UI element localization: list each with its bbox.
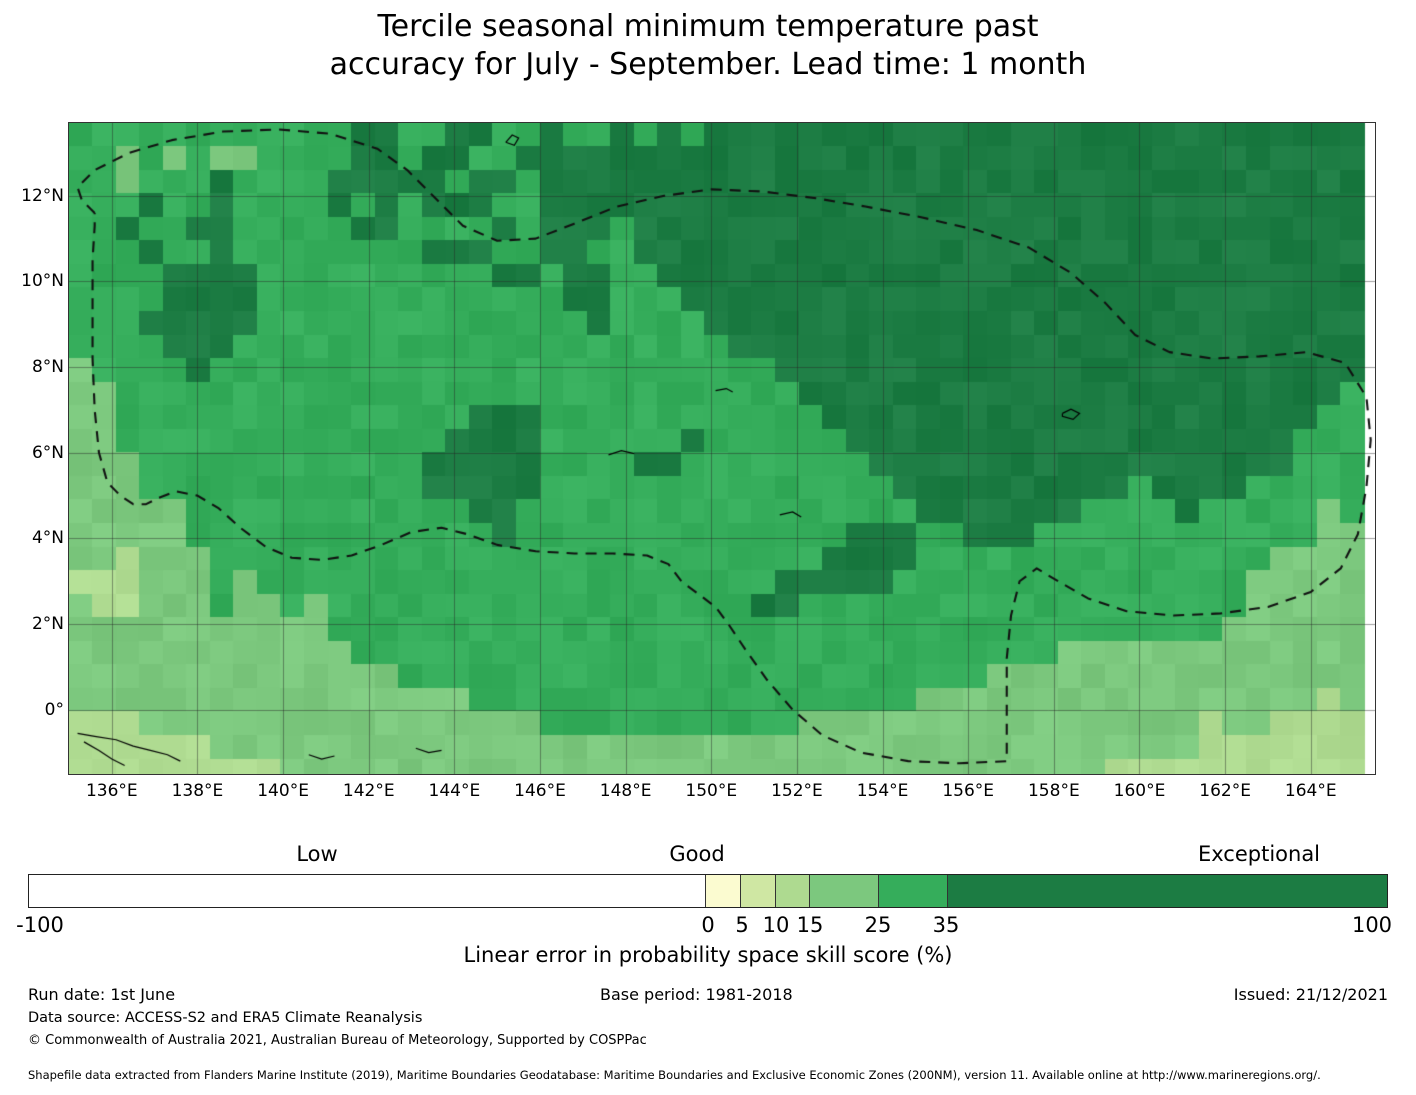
colorbar-segment [740, 875, 775, 907]
colorbar-tick-label: 25 [865, 913, 892, 937]
x-tick-label: 138°E [172, 781, 224, 801]
colorbar-tick-label: 0 [701, 913, 714, 937]
colorbar-segment [775, 875, 810, 907]
x-tick-label: 146°E [514, 781, 566, 801]
colorbar[interactable] [28, 874, 1388, 908]
colorbar-segment [809, 875, 878, 907]
colorbar-tick-label: 100 [1352, 913, 1392, 937]
x-tick-label: 152°E [771, 781, 823, 801]
colorbar-category-label: Good [669, 842, 724, 866]
colorbar-segment [29, 875, 705, 907]
x-tick-label: 154°E [857, 781, 909, 801]
page-title: Tercile seasonal minimum temperature pas… [0, 8, 1416, 84]
y-tick-label: 8°N [32, 357, 64, 377]
y-tick-label: 4°N [32, 528, 64, 548]
colorbar-segment [878, 875, 947, 907]
x-tick-label: 150°E [685, 781, 737, 801]
colorbar-tick-label: 10 [763, 913, 790, 937]
y-tick-label: 6°N [32, 443, 64, 463]
colorbar-tick-label: 35 [933, 913, 960, 937]
base-period-text: Base period: 1981-2018 [600, 985, 793, 1004]
x-tick-label: 164°E [1285, 781, 1337, 801]
x-tick-label: 158°E [1028, 781, 1080, 801]
shapefile-attribution-text: Shapefile data extracted from Flanders M… [28, 1068, 1321, 1082]
colorbar-axis-label: Linear error in probability space skill … [0, 943, 1416, 967]
y-tick-label: 10°N [21, 271, 64, 291]
data-source-text: Data source: ACCESS-S2 and ERA5 Climate … [28, 1010, 422, 1026]
colorbar-tick-label: 15 [797, 913, 824, 937]
colorbar-category-label: Low [296, 842, 337, 866]
x-tick-label: 148°E [600, 781, 652, 801]
x-tick-label: 160°E [1114, 781, 1166, 801]
colorbar-segment [947, 875, 1387, 907]
colorbar-tick-label: -100 [16, 913, 64, 937]
x-tick-label: 162°E [1199, 781, 1251, 801]
map-plot-area[interactable] [68, 122, 1376, 775]
x-tick-label: 142°E [343, 781, 395, 801]
x-tick-label: 156°E [942, 781, 994, 801]
colorbar-segment [705, 875, 740, 907]
climate-skill-map-figure: Tercile seasonal minimum temperature pas… [0, 0, 1416, 1095]
colorbar-tick-label: 5 [735, 913, 748, 937]
y-tick-label: 12°N [21, 186, 64, 206]
x-tick-label: 136°E [86, 781, 138, 801]
colorbar-gradient[interactable] [28, 874, 1388, 908]
x-tick-label: 140°E [257, 781, 309, 801]
y-tick-label: 0° [45, 700, 64, 720]
colorbar-category-label: Exceptional [1198, 842, 1320, 866]
issued-date-text: Issued: 21/12/2021 [1234, 985, 1388, 1004]
heatmap-canvas [69, 123, 1375, 774]
run-date-text: Run date: 1st June [28, 985, 175, 1004]
copyright-text: © Commonwealth of Australia 2021, Austra… [28, 1033, 647, 1048]
y-tick-label: 2°N [32, 614, 64, 634]
x-tick-label: 144°E [429, 781, 481, 801]
